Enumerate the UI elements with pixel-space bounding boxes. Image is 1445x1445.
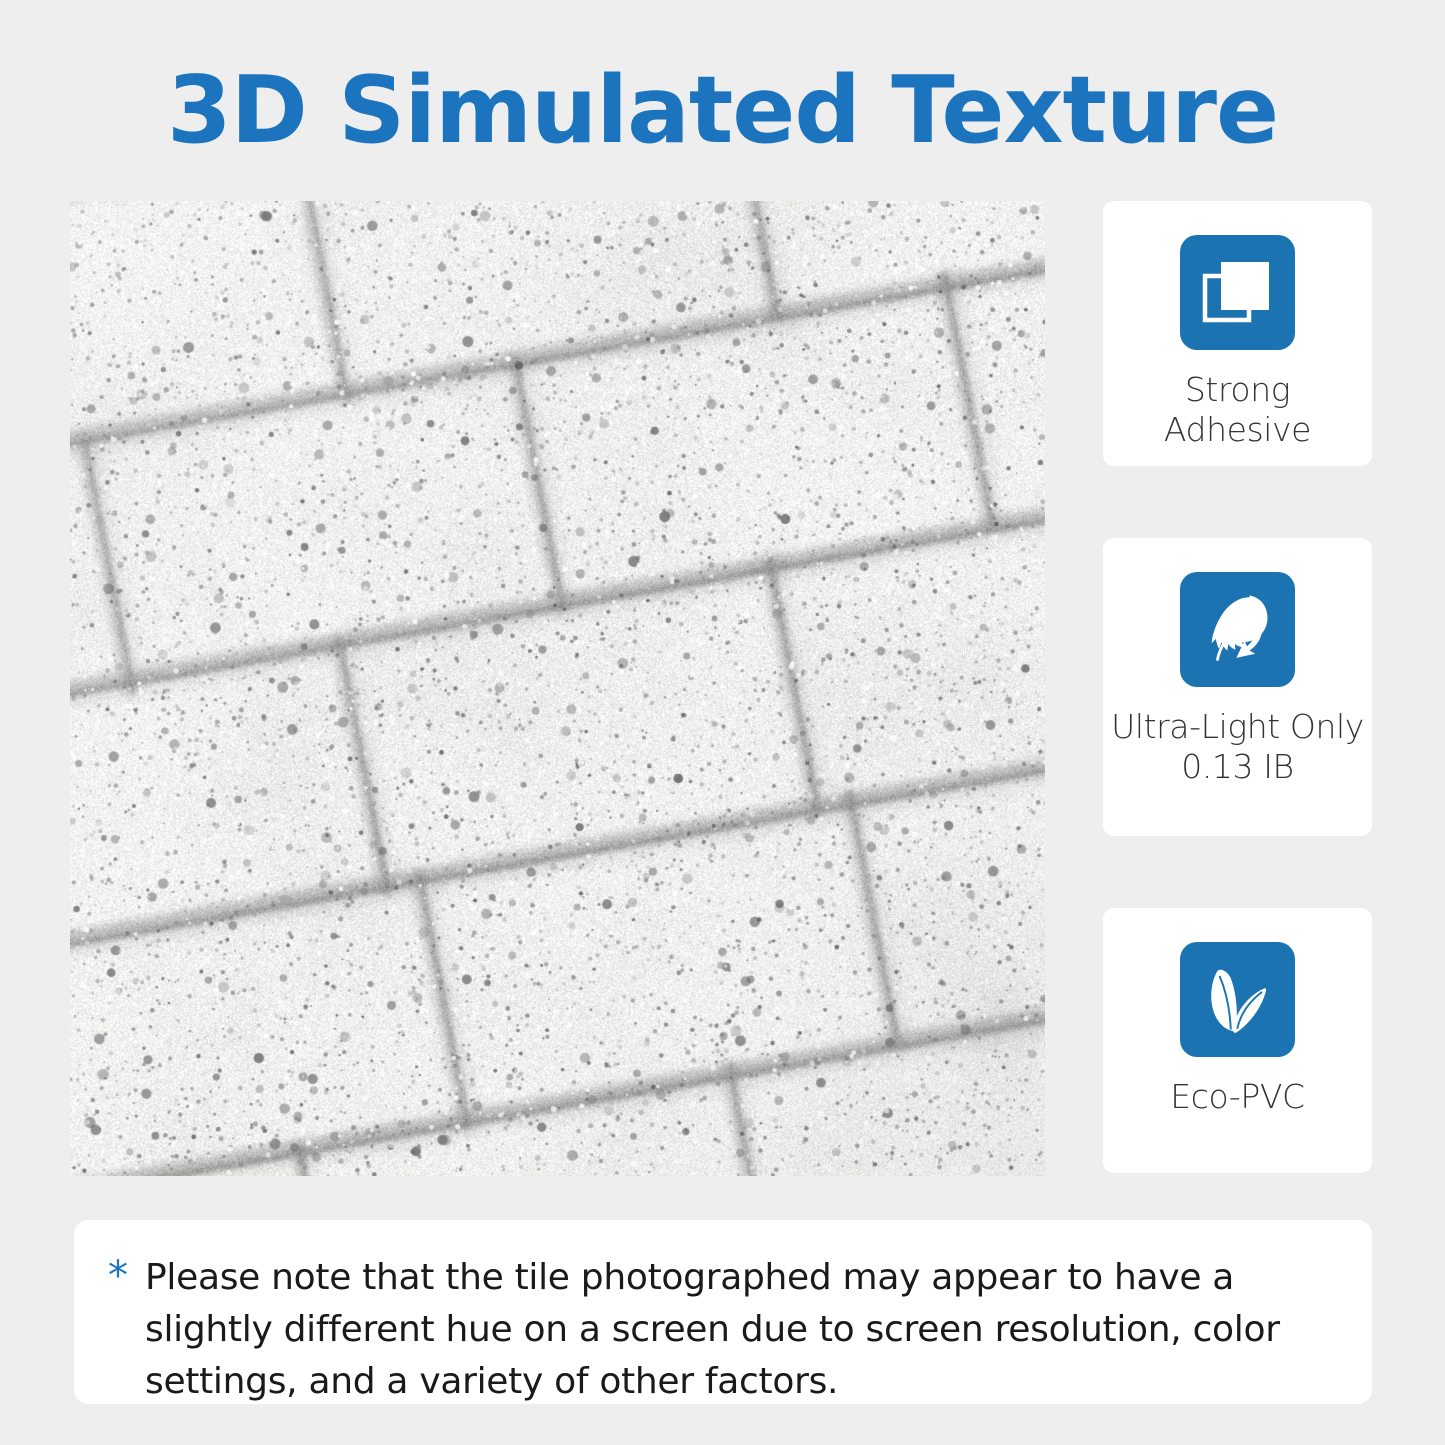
eco-leaves-icon: [1198, 960, 1278, 1040]
feature-label-line1: Strong Adhesive: [1164, 370, 1311, 449]
feature-card-list: Strong Adhesive Ultra-Light Only 0.13: [1103, 201, 1372, 1173]
icon-tile-eco-pvc: [1180, 942, 1295, 1057]
asterisk-marker: *: [108, 1252, 128, 1300]
feature-card-strong-adhesive[interactable]: Strong Adhesive: [1103, 201, 1372, 466]
feature-label-line2: 0.13 IB: [1107, 747, 1368, 787]
feature-label-ultra-light: Ultra-Light Only 0.13 IB: [1103, 707, 1372, 788]
feature-card-ultra-light[interactable]: Ultra-Light Only 0.13 IB: [1103, 538, 1372, 836]
icon-tile-adhesive: [1180, 235, 1295, 350]
brick-texture-image: [70, 201, 1045, 1176]
disclaimer-note: * Please note that the tile photographed…: [74, 1220, 1372, 1404]
feature-label-eco-pvc: Eco-PVC: [1103, 1077, 1372, 1117]
feature-label-strong-adhesive: Strong Adhesive: [1103, 370, 1372, 451]
disclaimer-text: Please note that the tile photographed m…: [145, 1252, 1326, 1408]
feature-label-line1: Ultra-Light Only: [1111, 707, 1364, 746]
icon-tile-ultra-light: [1180, 572, 1295, 687]
product-texture-photo: [70, 201, 1045, 1176]
feather-weight-icon: [1197, 589, 1279, 671]
feature-label-line1: Eco-PVC: [1170, 1077, 1304, 1116]
feature-card-eco-pvc[interactable]: Eco-PVC: [1103, 908, 1372, 1173]
page-title: 3D Simulated Texture: [0, 62, 1445, 160]
adhesive-layers-icon: [1199, 254, 1277, 332]
